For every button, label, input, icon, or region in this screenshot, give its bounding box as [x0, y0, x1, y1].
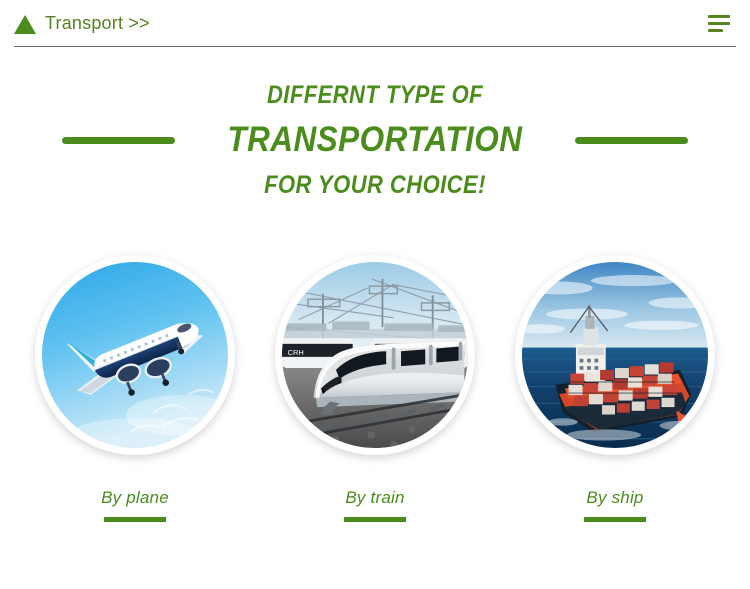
transport-card-label-plane[interactable]: By plane [101, 488, 169, 508]
brand-logo[interactable]: Transport >> [14, 13, 150, 34]
card-underline-plane [104, 517, 166, 522]
page-root: Transport >> DIFFERNT TYPE OF TRANSPORTA… [0, 0, 750, 589]
hamburger-bar-3 [708, 29, 723, 32]
svg-text:CRH: CRH [288, 348, 304, 357]
transport-card-plane[interactable]: By plane [35, 255, 235, 522]
airplane-photo-icon [42, 262, 228, 448]
transport-options: By plane [0, 255, 750, 522]
transport-card-label-ship[interactable]: By ship [586, 488, 643, 508]
cargo-ship-photo-icon [522, 262, 708, 448]
site-header: Transport >> [0, 0, 750, 47]
plane-image-circle[interactable] [35, 255, 235, 455]
airplane-photo [42, 262, 228, 448]
hero-line-1: DIFFERNT TYPE OF [45, 80, 705, 110]
hero-line-2-row: TRANSPORTATION [0, 120, 750, 160]
hero-line-3: FOR YOUR CHOICE! [45, 170, 705, 200]
brand-label: Transport >> [45, 13, 150, 34]
cargo-ship-photo [522, 262, 708, 448]
hamburger-menu-icon[interactable] [708, 15, 730, 32]
train-photo: CRH [282, 262, 468, 448]
hamburger-bar-2 [708, 22, 730, 25]
ship-image-circle[interactable] [515, 255, 715, 455]
hero-heading: DIFFERNT TYPE OF TRANSPORTATION FOR YOUR… [0, 80, 750, 200]
header-divider [14, 46, 736, 47]
triangle-logo-icon [14, 15, 36, 34]
hero-dash-right [575, 137, 688, 144]
hamburger-bar-1 [708, 15, 730, 18]
transport-card-train[interactable]: CRH [275, 255, 475, 522]
hero-dash-left [62, 137, 175, 144]
transport-card-label-train[interactable]: By train [345, 488, 404, 508]
train-photo-icon: CRH [282, 262, 468, 448]
hero-line-2: TRANSPORTATION [227, 120, 522, 160]
card-underline-train [344, 517, 406, 522]
train-image-circle[interactable]: CRH [275, 255, 475, 455]
transport-card-ship[interactable]: By ship [515, 255, 715, 522]
card-underline-ship [584, 517, 646, 522]
